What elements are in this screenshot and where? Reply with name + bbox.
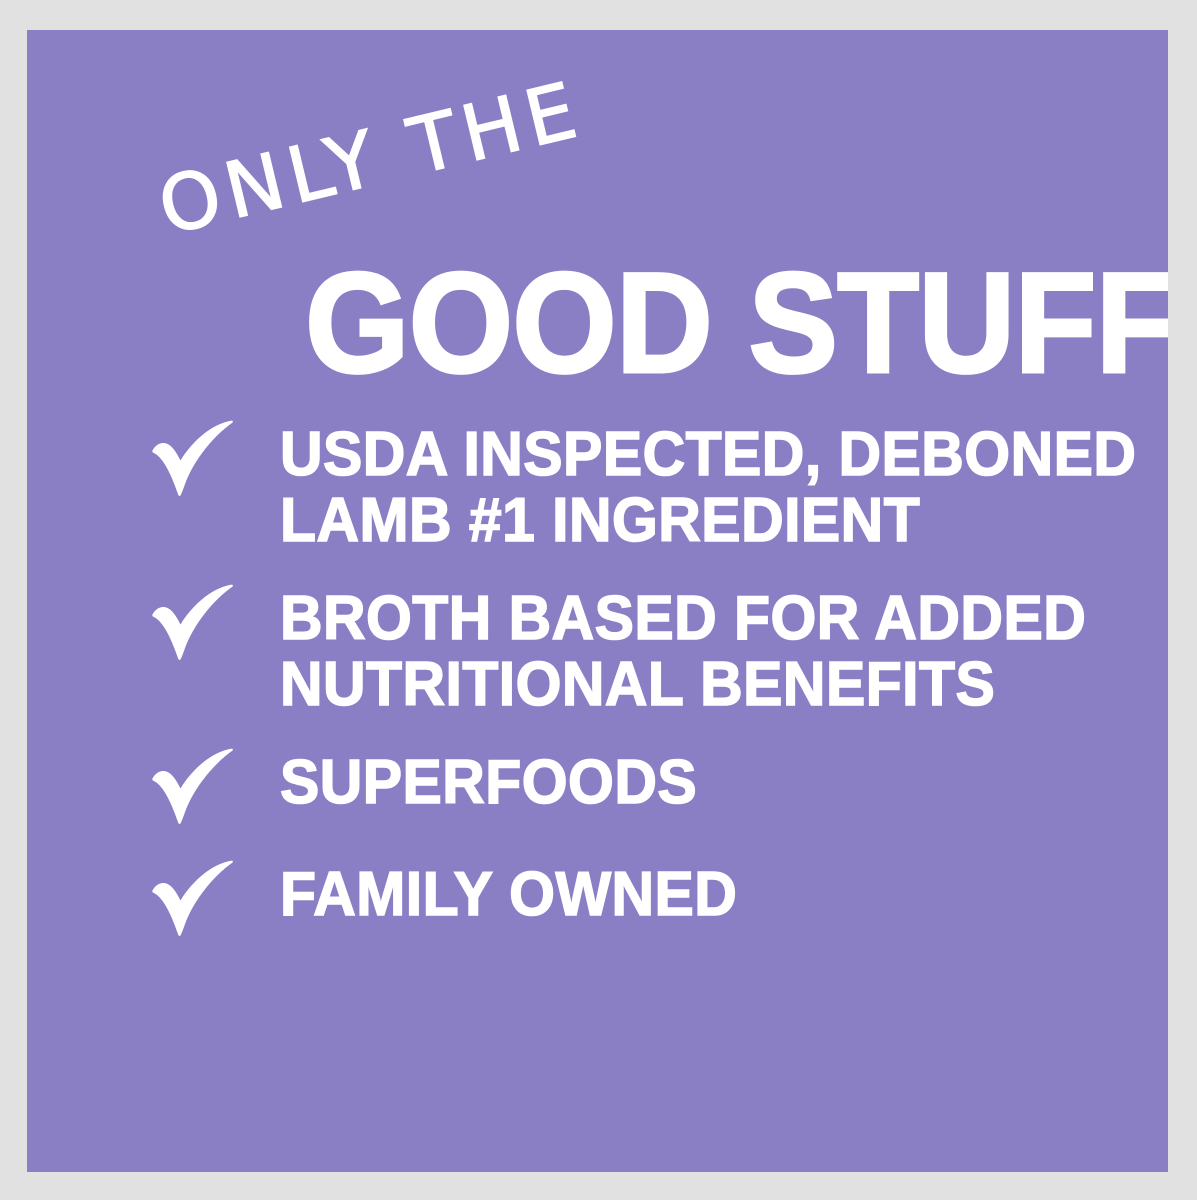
- page-title: GOOD STUFF:: [305, 252, 1168, 395]
- list-item-line: FAMILY OWNED: [280, 862, 1097, 928]
- headline-block: ONLY THE GOOD STUFF:: [27, 30, 1168, 370]
- list-item: SUPERFOODS: [130, 748, 1140, 824]
- promo-graphic: ONLY THE GOOD STUFF: USDA INSPECTED, DEB…: [0, 0, 1197, 1200]
- list-item-label: SUPERFOODS: [280, 748, 1097, 816]
- list-item-line: LAMB #1 INGREDIENT: [280, 488, 1136, 554]
- purple-card-panel: ONLY THE GOOD STUFF: USDA INSPECTED, DEB…: [27, 30, 1168, 1172]
- list-item-label: BROTH BASED FOR ADDED NUTRITIONAL BENEFI…: [280, 584, 1097, 718]
- list-item-line: BROTH BASED FOR ADDED: [280, 586, 1097, 652]
- benefits-list: USDA INSPECTED, DEBONED LAMB #1 INGREDIE…: [130, 420, 1140, 936]
- check-icon: [130, 584, 280, 660]
- check-icon: [130, 860, 280, 936]
- headline-eyebrow: ONLY THE: [152, 71, 590, 247]
- list-item-label: USDA INSPECTED, DEBONED LAMB #1 INGREDIE…: [280, 420, 1136, 554]
- list-item-line: NUTRITIONAL BENEFITS: [280, 652, 1097, 718]
- list-item-line: SUPERFOODS: [280, 750, 1097, 816]
- check-icon: [130, 748, 280, 824]
- list-item: USDA INSPECTED, DEBONED LAMB #1 INGREDIE…: [130, 420, 1140, 554]
- list-item-line: USDA INSPECTED, DEBONED: [280, 422, 1136, 488]
- list-item: BROTH BASED FOR ADDED NUTRITIONAL BENEFI…: [130, 584, 1140, 718]
- check-icon: [130, 420, 280, 496]
- list-item: FAMILY OWNED: [130, 860, 1140, 936]
- list-item-label: FAMILY OWNED: [280, 860, 1097, 928]
